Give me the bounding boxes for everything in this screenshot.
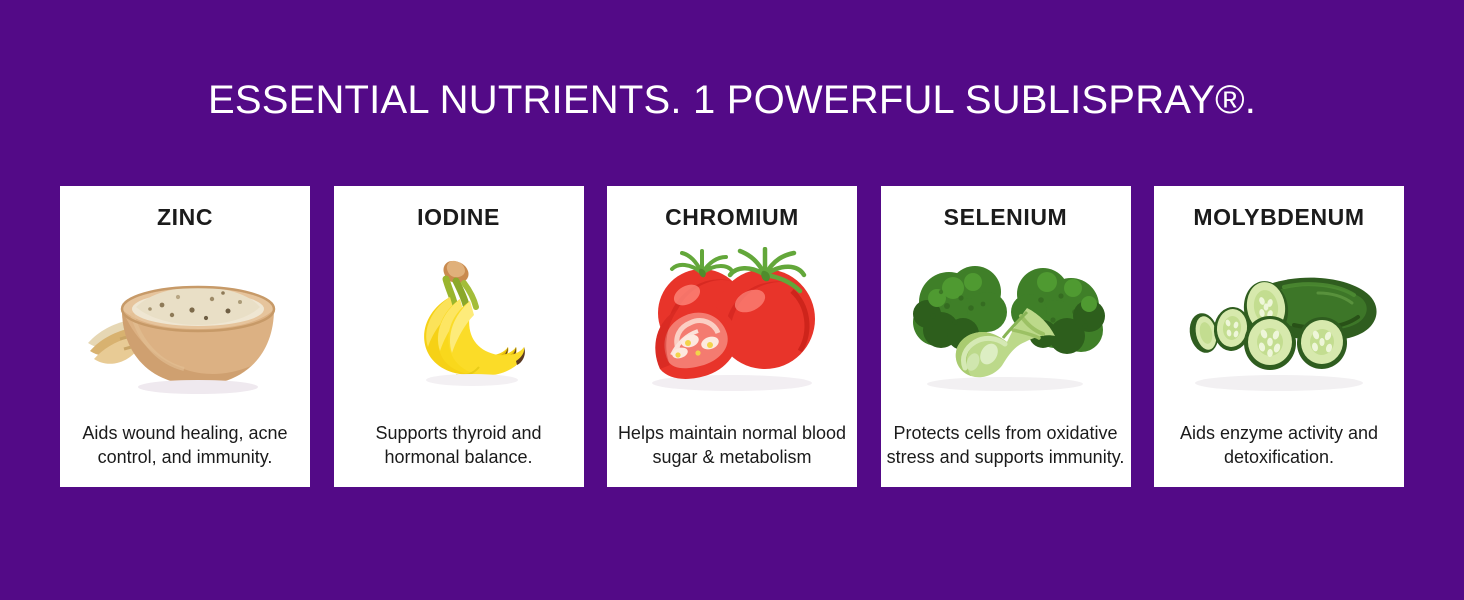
nutrient-card-molybdenum[interactable]: MOLYBDENUM <box>1154 186 1404 487</box>
broccoli-icon <box>881 242 1131 402</box>
bananas-icon <box>334 242 584 402</box>
card-caption: Supports thyroid and hormonal balance. <box>340 421 578 469</box>
page-title: ESSENTIAL NUTRIENTS. 1 POWERFUL SUBLISPR… <box>0 76 1464 124</box>
card-title: IODINE <box>334 204 584 231</box>
nutrient-banner: ESSENTIAL NUTRIENTS. 1 POWERFUL SUBLISPR… <box>0 0 1464 600</box>
cucumber-icon <box>1154 242 1404 402</box>
card-caption: Helps maintain normal blood sugar & meta… <box>613 421 851 469</box>
card-caption: Protects cells from oxidative stress and… <box>887 421 1125 469</box>
nutrient-card-zinc[interactable]: ZINC <box>60 186 310 487</box>
nutrient-card-selenium[interactable]: SELENIUM <box>881 186 1131 487</box>
card-caption: Aids enzyme activity and detoxification. <box>1160 421 1398 469</box>
bowl-of-grains-icon <box>60 242 310 402</box>
nutrient-card-iodine[interactable]: IODINE <box>334 186 584 487</box>
card-title: SELENIUM <box>881 204 1131 231</box>
card-title: MOLYBDENUM <box>1154 204 1404 231</box>
tomatoes-icon <box>607 242 857 402</box>
nutrient-card-chromium[interactable]: CHROMIUM <box>607 186 857 487</box>
nutrient-card-list: ZINC <box>60 186 1404 487</box>
card-caption: Aids wound healing, acne control, and im… <box>66 421 304 469</box>
card-title: CHROMIUM <box>607 204 857 231</box>
card-title: ZINC <box>60 204 310 231</box>
